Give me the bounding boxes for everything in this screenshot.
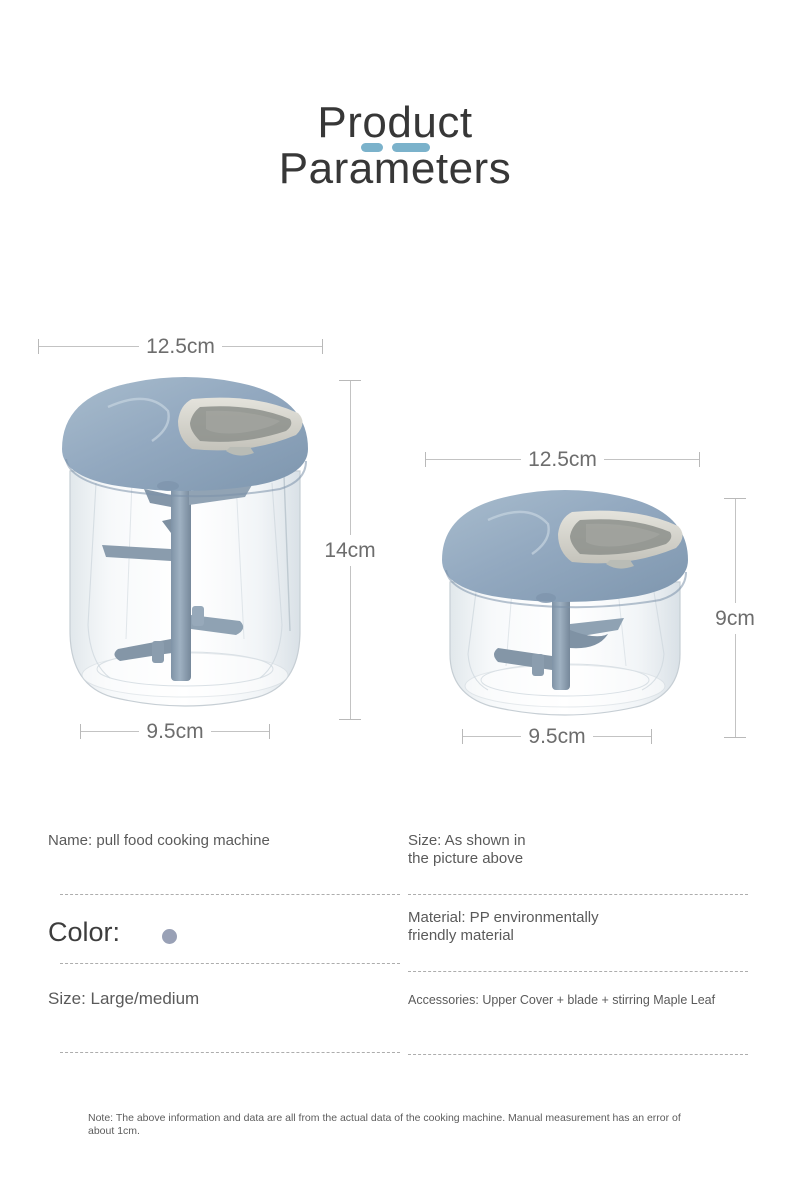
dimension-base-small: 9.5cm (462, 725, 652, 747)
dimension-label-height: 9cm (715, 603, 755, 634)
spec-label-color: Color: (48, 917, 120, 947)
accent-dash-long (392, 143, 430, 152)
spec-cell-color: Color: (48, 895, 408, 972)
specifications-table: Name: pull food cooking machine Size: As… (48, 818, 748, 1055)
dimension-rule-left (463, 736, 521, 737)
dimension-cap-bottom (339, 719, 361, 720)
spec-divider (60, 963, 400, 964)
dimension-rule-top (350, 381, 351, 535)
spec-row-color-material: Color: Material: PP environmentally frie… (48, 895, 748, 972)
spec-value-name: Name: pull food cooking machine (48, 832, 270, 850)
spec-value-accessories: Accessories: Upper Cover + blade + stirr… (408, 992, 715, 1008)
dimension-rule-right (593, 736, 651, 737)
spec-cell-name: Name: pull food cooking machine (48, 818, 408, 895)
spec-cell-size: Size: Large/medium (48, 972, 408, 1055)
chopper-illustration-large (40, 363, 330, 723)
dimension-height-large: 14cm (320, 380, 380, 720)
dimension-cap-right (322, 339, 323, 354)
accent-dash-short (361, 143, 383, 152)
chopper-illustration-small (428, 478, 703, 728)
footer-note: Note: The above information and data are… (88, 1112, 708, 1138)
dimension-rule-left (426, 459, 521, 460)
spec-value-size: Size: Large/medium (48, 990, 199, 1008)
dimension-cap-right (699, 452, 700, 467)
dimension-cap-right (269, 724, 270, 739)
color-swatch[interactable] (162, 929, 177, 944)
dimension-base-large: 9.5cm (80, 720, 270, 742)
spec-row-name-size: Name: pull food cooking machine Size: As… (48, 818, 748, 895)
dimension-rule-right (222, 346, 322, 347)
spec-cell-size-note: Size: As shown in the picture above (408, 818, 748, 895)
dimension-label-base: 9.5cm (139, 721, 210, 742)
dimension-label-height: 14cm (324, 535, 375, 566)
dimension-label-base: 9.5cm (521, 726, 592, 747)
spec-cell-material: Material: PP environmentally friendly ma… (408, 895, 748, 972)
spec-divider (60, 1052, 400, 1053)
dimension-rule-bottom (735, 634, 736, 738)
dimension-rule-bottom (350, 566, 351, 720)
dimension-rule-right (604, 459, 699, 460)
spec-value-material: Material: PP environmentally friendly ma… (408, 909, 599, 945)
product-figure-large: 12.5cm (30, 335, 380, 765)
dimension-height-small: 9cm (705, 498, 765, 738)
dimension-width-small: 12.5cm (425, 448, 700, 470)
product-figure-small: 12.5cm (420, 440, 770, 770)
dimension-cap-bottom (724, 737, 746, 738)
spec-cell-accessories: Accessories: Upper Cover + blade + stirr… (408, 972, 748, 1055)
dimension-rule-left (39, 346, 139, 347)
dimension-label-width: 12.5cm (521, 449, 604, 470)
dimension-cap-right (651, 729, 652, 744)
title-accent-dashes (0, 143, 790, 152)
dimension-width-large: 12.5cm (38, 335, 323, 357)
dimension-rule-right (211, 731, 269, 732)
spec-row-size-accessories: Size: Large/medium Accessories: Upper Co… (48, 972, 748, 1055)
spec-divider (408, 1054, 748, 1055)
spec-value-size-note: Size: As shown in the picture above (408, 832, 526, 868)
page-title-line2: Parameters (0, 146, 790, 192)
dimension-rule-top (735, 499, 736, 603)
page-title-line1: Product (0, 100, 790, 146)
dimension-rule-left (81, 731, 139, 732)
dimension-label-width: 12.5cm (139, 336, 222, 357)
